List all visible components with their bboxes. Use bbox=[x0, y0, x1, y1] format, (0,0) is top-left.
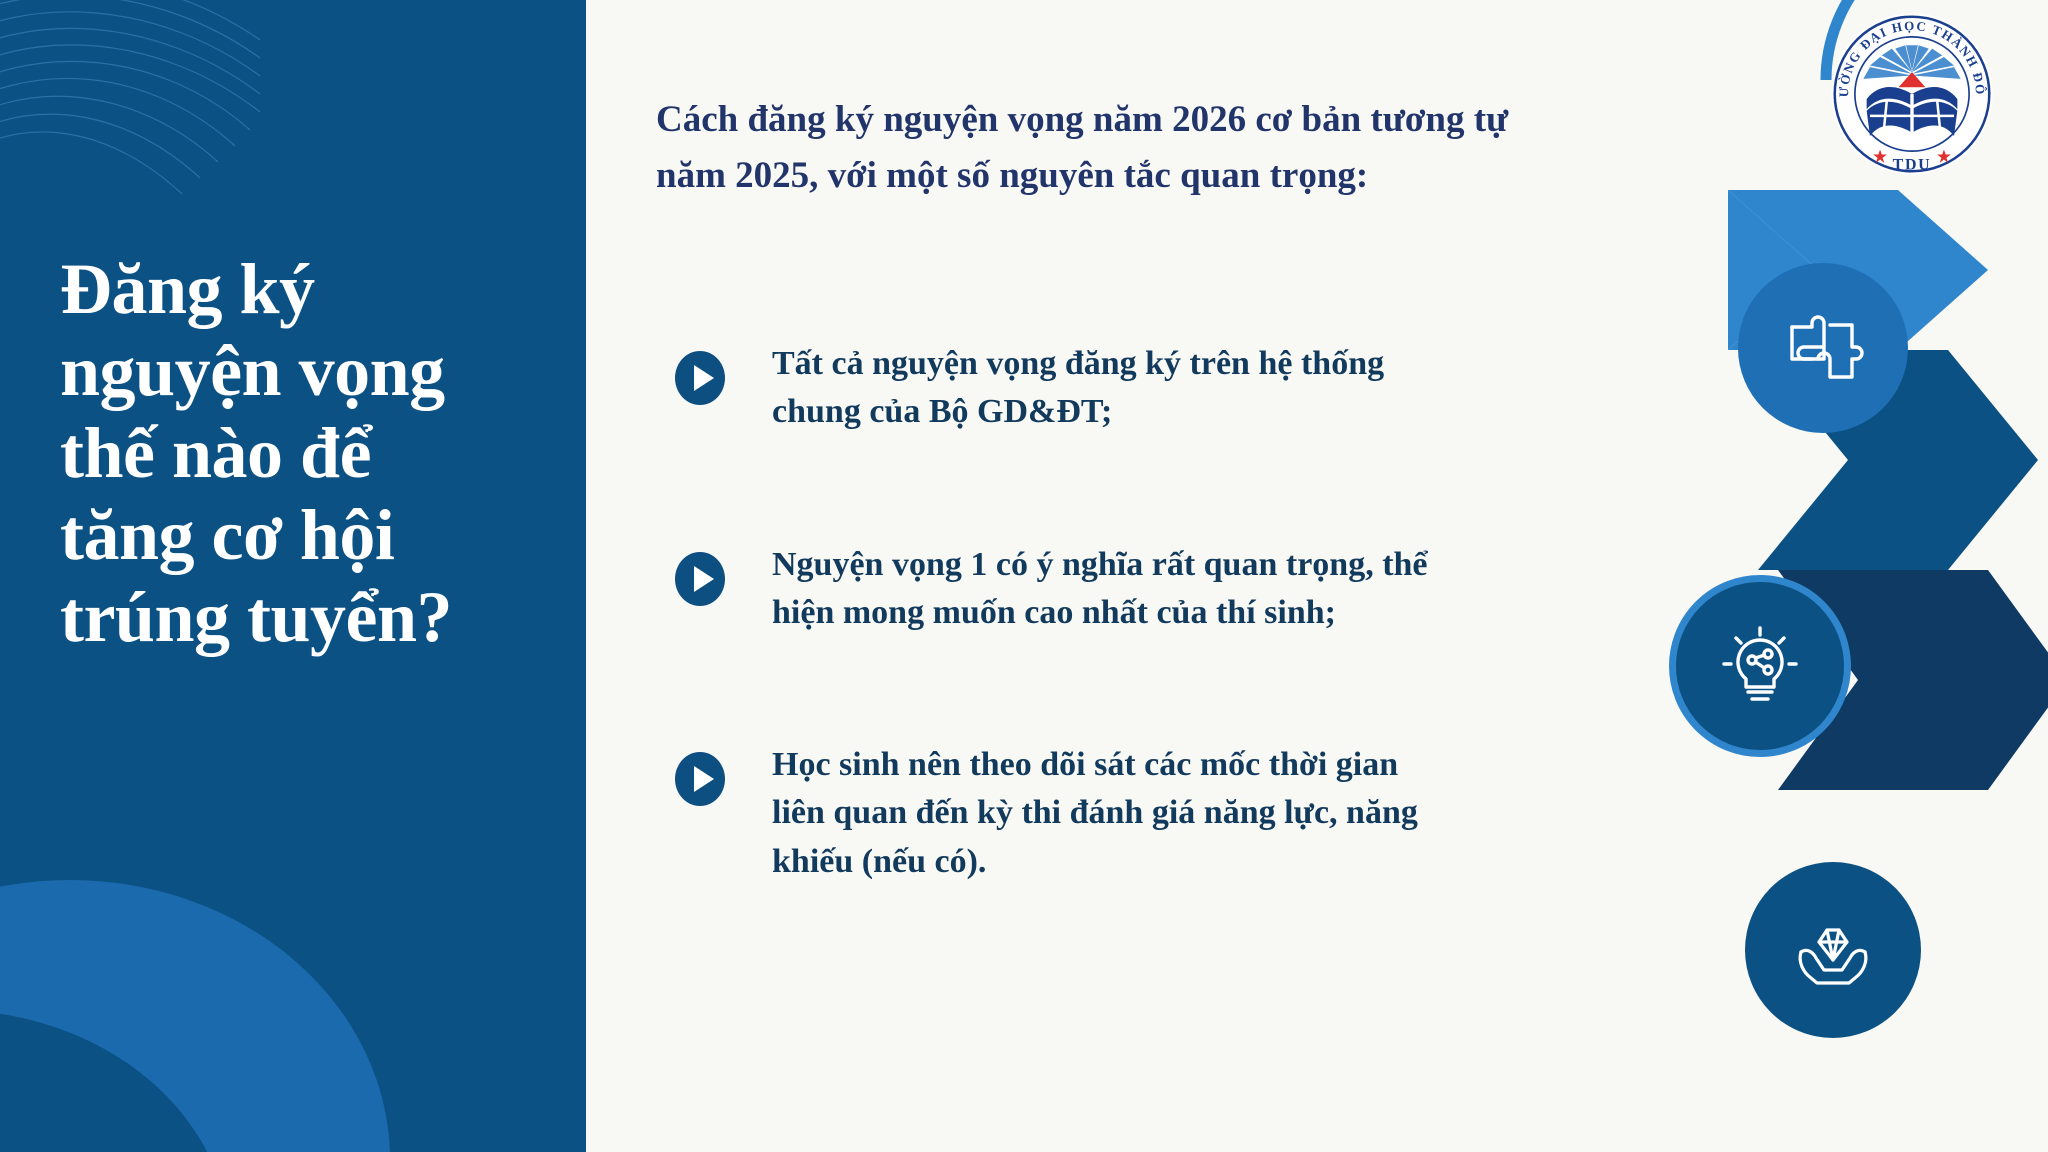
play-circle-icon bbox=[672, 551, 728, 607]
bullet-line: liên quan đến kỳ thi đánh giá năng lực, … bbox=[772, 789, 1418, 837]
puzzle-piece-icon bbox=[1780, 305, 1866, 391]
list-item: Tất cả nguyện vọng đăng ký trên hệ thống… bbox=[672, 340, 1732, 437]
tdu-university-logo: TRƯỜNG ĐẠI HỌC THÀNH ĐÔNG TDU bbox=[1828, 10, 1996, 178]
bullet-line: Nguyện vọng 1 có ý nghĩa rất quan trọng,… bbox=[772, 541, 1428, 589]
lightbulb-idea-badge bbox=[1669, 575, 1851, 757]
bullet-list: Tất cả nguyện vọng đăng ký trên hệ thống… bbox=[672, 340, 1732, 990]
hands-holding-diamond-icon bbox=[1787, 904, 1879, 996]
title-line: thế nào để bbox=[60, 412, 580, 494]
left-title-panel: Đăng ký nguyện vọng thế nào để tăng cơ h… bbox=[0, 0, 586, 1152]
intro-paragraph: Cách đăng ký nguyện vọng năm 2026 cơ bản… bbox=[656, 92, 1786, 204]
title-line: Đăng ký bbox=[60, 248, 580, 330]
bullet-line: hiện mong muốn cao nhất của thí sinh; bbox=[772, 589, 1428, 637]
list-item: Nguyện vọng 1 có ý nghĩa rất quan trọng,… bbox=[672, 541, 1732, 638]
hands-holding-diamond-badge bbox=[1745, 862, 1921, 1038]
intro-line-1: Cách đăng ký nguyện vọng năm 2026 cơ bản… bbox=[656, 99, 1508, 140]
intro-line-2: năm 2025, với một số nguyên tắc quan trọ… bbox=[656, 155, 1368, 196]
title-line: trúng tuyển? bbox=[60, 576, 580, 658]
list-item-text: Học sinh nên theo dõi sát các mốc thời g… bbox=[772, 741, 1418, 886]
list-item-text: Nguyện vọng 1 có ý nghĩa rất quan trọng,… bbox=[772, 541, 1428, 638]
slide-canvas: Đăng ký nguyện vọng thế nào để tăng cơ h… bbox=[0, 0, 2048, 1152]
puzzle-piece-badge bbox=[1738, 263, 1908, 433]
play-circle-icon bbox=[672, 350, 728, 406]
bullet-line: khiếu (nếu có). bbox=[772, 838, 1418, 886]
page-title: Đăng ký nguyện vọng thế nào để tăng cơ h… bbox=[60, 248, 580, 658]
lightbulb-idea-icon bbox=[1714, 620, 1806, 712]
decorative-swoosh-lines bbox=[0, 0, 320, 280]
logo-abbrev: TDU bbox=[1893, 157, 1932, 174]
play-circle-icon bbox=[672, 751, 728, 807]
title-line: nguyện vọng bbox=[60, 330, 580, 412]
bullet-line: Học sinh nên theo dõi sát các mốc thời g… bbox=[772, 741, 1418, 789]
title-line: tăng cơ hội bbox=[60, 494, 580, 576]
bullet-line: Tất cả nguyện vọng đăng ký trên hệ thống bbox=[772, 340, 1384, 388]
bullet-line: chung của Bộ GD&ĐT; bbox=[772, 388, 1384, 436]
list-item: Học sinh nên theo dõi sát các mốc thời g… bbox=[672, 741, 1732, 886]
list-item-text: Tất cả nguyện vọng đăng ký trên hệ thống… bbox=[772, 340, 1384, 437]
